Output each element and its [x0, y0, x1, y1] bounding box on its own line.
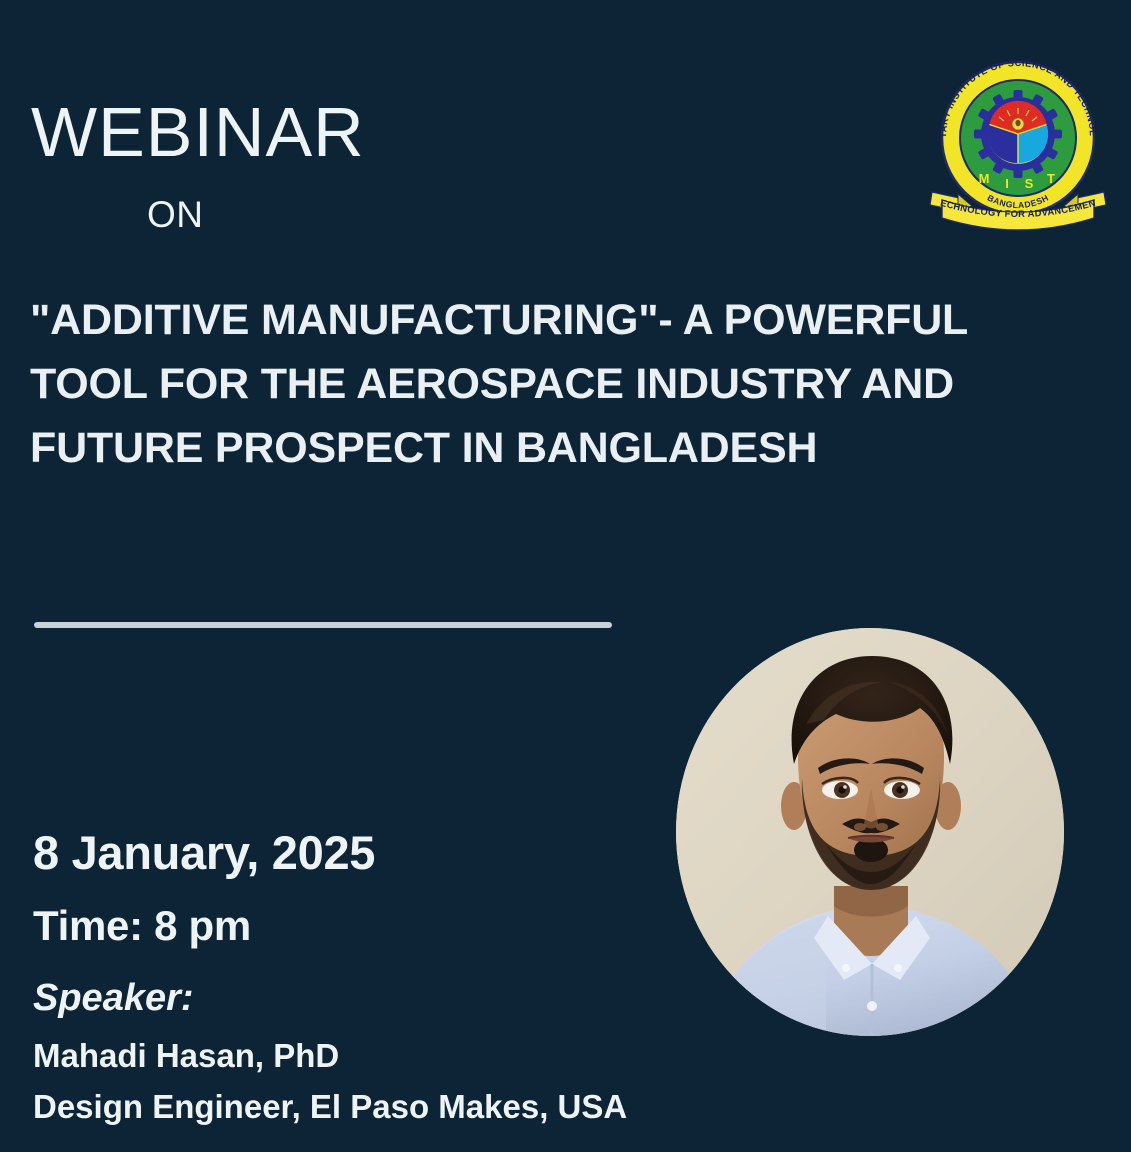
speaker-affiliation: Design Engineer, El Paso Makes, USA — [33, 1090, 627, 1123]
divider — [34, 622, 612, 628]
webinar-poster: WEBINAR ON "ADDITIVE MANUFACTURING"- A P… — [0, 0, 1131, 1152]
topic-line-1: "ADDITIVE MANUFACTURING"- A POWERFUL — [30, 288, 1100, 352]
event-date: 8 January, 2025 — [33, 829, 375, 876]
svg-text:T: T — [1047, 171, 1055, 186]
page-title: WEBINAR — [31, 97, 365, 167]
topic-line-3: FUTURE PROSPECT IN BANGLADESH — [30, 416, 1100, 480]
svg-text:S: S — [1025, 176, 1034, 191]
mist-logo: MILITARY INSTITUTE OF SCIENCE AND TECHNO… — [928, 42, 1108, 237]
speaker-label: Speaker: — [33, 979, 194, 1017]
svg-text:I: I — [1005, 176, 1009, 191]
svg-text:M: M — [979, 171, 990, 186]
webinar-on-label: ON — [147, 196, 204, 233]
speaker-name: Mahadi Hasan, PhD — [33, 1039, 339, 1072]
webinar-topic: "ADDITIVE MANUFACTURING"- A POWERFUL TOO… — [30, 288, 1100, 480]
speaker-photo — [676, 628, 1064, 1036]
topic-line-2: TOOL FOR THE AEROSPACE INDUSTRY AND — [30, 352, 1100, 416]
event-time: Time: 8 pm — [33, 905, 251, 947]
